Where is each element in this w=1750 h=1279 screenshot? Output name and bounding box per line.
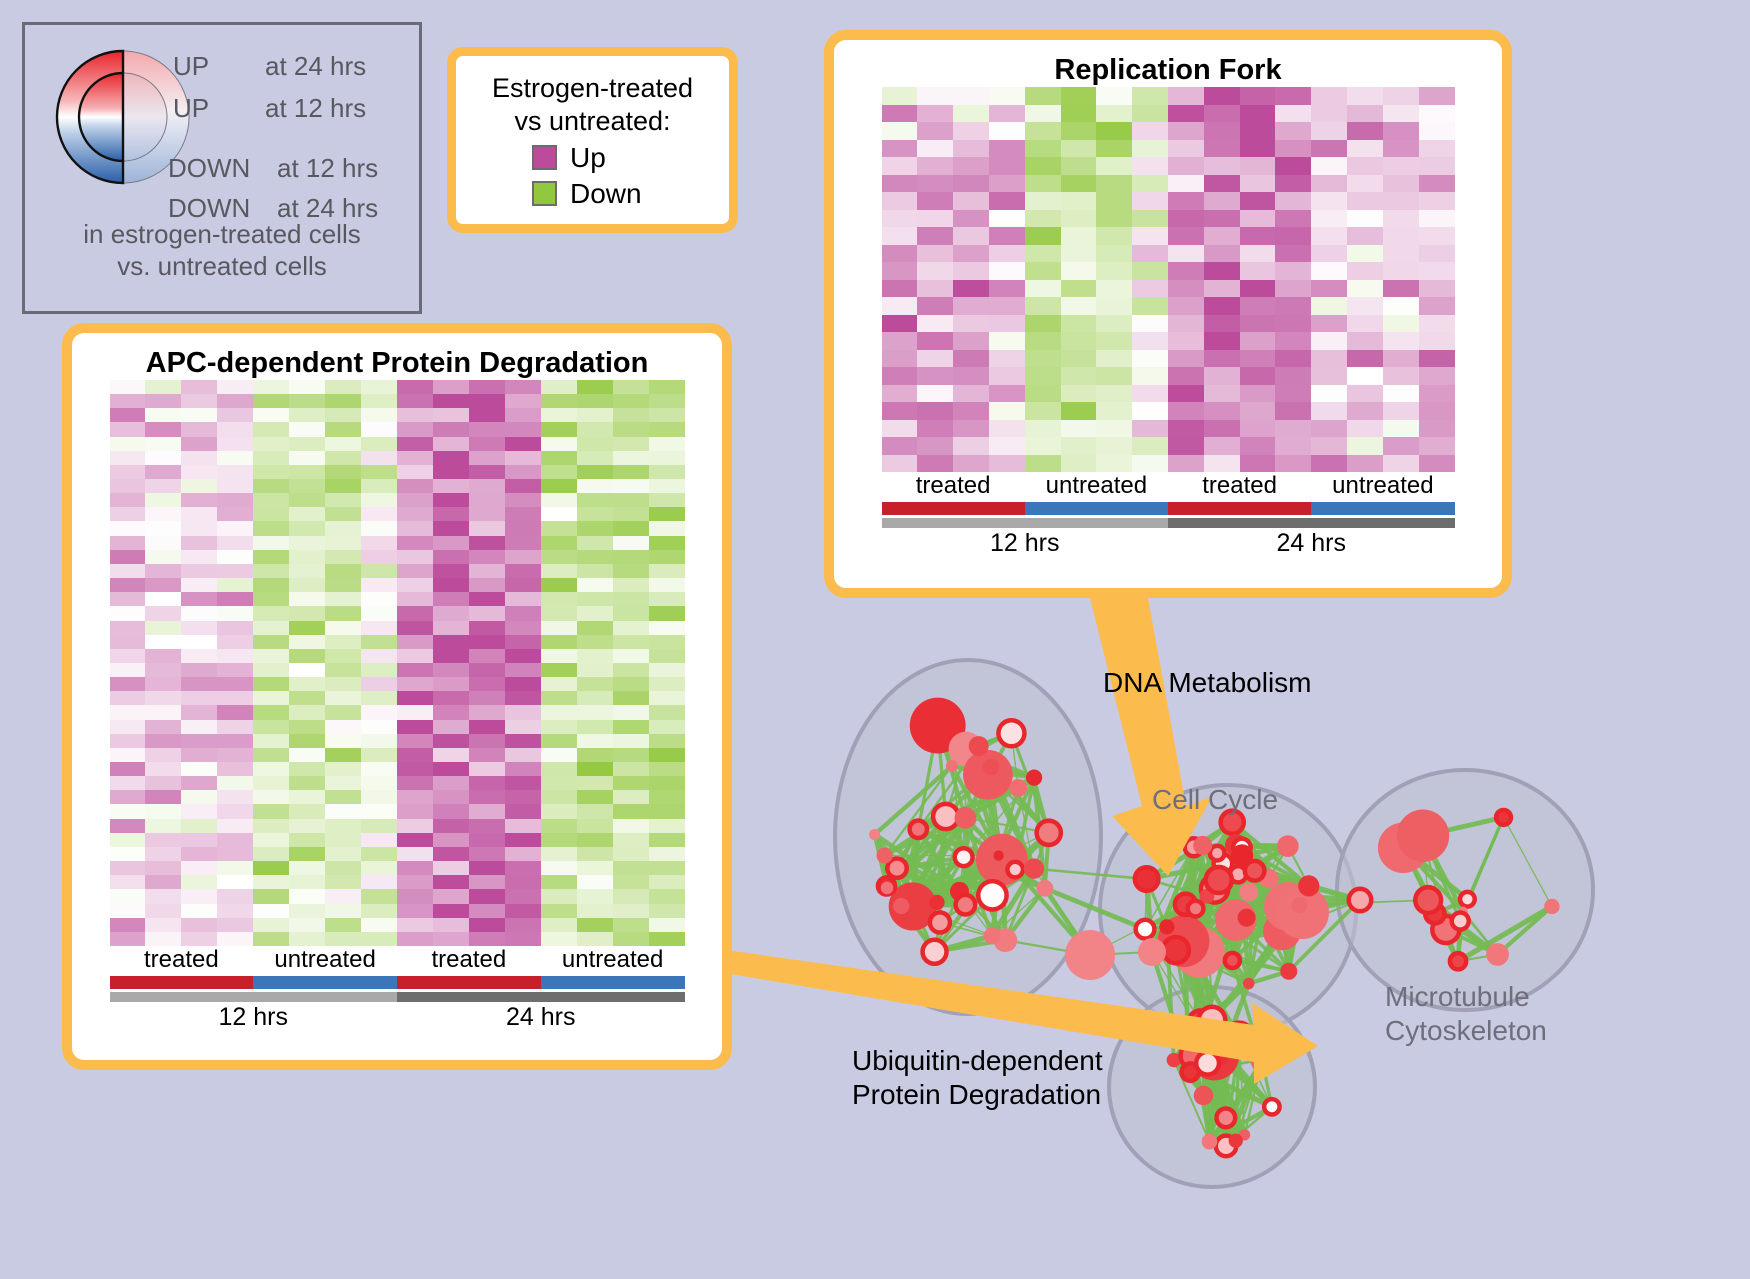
heatmap-cell xyxy=(1096,262,1132,280)
heatmap-cell xyxy=(145,550,181,564)
timepoint-bar-segment-1 xyxy=(1168,518,1455,528)
heatmap-cell xyxy=(253,663,289,677)
heatmap-cell xyxy=(145,720,181,734)
heatmap-cell xyxy=(882,227,918,245)
heatmap-cell xyxy=(953,437,989,455)
heatmap-cell xyxy=(1168,385,1204,403)
heatmap-cell xyxy=(289,918,325,932)
column-group-labels-apc: treateduntreatedtreateduntreated xyxy=(110,946,685,974)
heatmap-cell xyxy=(325,932,361,946)
heatmap-cell xyxy=(1025,402,1061,420)
heatmap-cell xyxy=(649,507,685,521)
heatmap-cell xyxy=(1311,122,1347,140)
heatmap-cell xyxy=(433,833,469,847)
heatmap-cell xyxy=(1204,175,1240,193)
network-node xyxy=(1202,1134,1218,1150)
legend-key-up-12: UP xyxy=(173,93,209,124)
legend-time-up-12: at 12 hrs xyxy=(265,93,366,124)
heatmap-cell xyxy=(1311,280,1347,298)
heatmap-cell xyxy=(1240,157,1276,175)
heatmap-cell xyxy=(613,932,649,946)
heatmap-cell xyxy=(217,408,253,422)
heatmap-cell xyxy=(1347,455,1383,473)
heatmap-cell xyxy=(1275,315,1311,333)
heatmap-cell xyxy=(1347,262,1383,280)
heatmap-cell xyxy=(541,904,577,918)
heatmap-cell xyxy=(917,315,953,333)
heatmap-cell xyxy=(110,663,146,677)
heatmap-cell xyxy=(1347,350,1383,368)
heatmap-cell xyxy=(541,875,577,889)
heatmap-cell xyxy=(917,262,953,280)
heatmap-cell xyxy=(613,606,649,620)
heatmap-cell xyxy=(217,578,253,592)
heatmap-cell xyxy=(181,550,217,564)
heatmap-cell xyxy=(253,394,289,408)
heatmap-cell xyxy=(181,479,217,493)
heatmap-cell xyxy=(145,734,181,748)
heatmap-cell xyxy=(953,385,989,403)
heatmap-cell xyxy=(1240,210,1276,228)
treatment-bar-segment-2 xyxy=(397,976,541,989)
heatmap-cell xyxy=(289,507,325,521)
heatmap-cell xyxy=(325,394,361,408)
heatmap-cell xyxy=(1025,437,1061,455)
heatmap-cell xyxy=(917,140,953,158)
heatmap-cell xyxy=(145,592,181,606)
heatmap-cell xyxy=(361,677,397,691)
heatmap-cell xyxy=(1025,297,1061,315)
heatmap-cell xyxy=(989,105,1025,123)
heatmap-cell xyxy=(1275,332,1311,350)
heatmap-cell xyxy=(397,493,433,507)
heatmap-cell xyxy=(397,451,433,465)
heatmap-cell xyxy=(1096,140,1132,158)
heatmap-cell xyxy=(1168,262,1204,280)
heatmap-cell xyxy=(433,904,469,918)
heatmap-cell xyxy=(577,932,613,946)
heatmap-cell xyxy=(541,451,577,465)
heatmap-cell xyxy=(541,889,577,903)
heatmap-cell xyxy=(361,889,397,903)
heatmap-cell xyxy=(361,635,397,649)
heatmap-cell xyxy=(181,621,217,635)
heatmap-cell xyxy=(953,402,989,420)
heatmap-cell xyxy=(577,875,613,889)
column-group-label-3: untreated xyxy=(541,946,685,974)
heatmap-cell xyxy=(181,932,217,946)
heatmap-cell xyxy=(145,536,181,550)
heatmap-cell xyxy=(253,790,289,804)
heatmap-cell xyxy=(1025,245,1061,263)
heatmap-cell xyxy=(541,918,577,932)
heatmap-cell xyxy=(253,819,289,833)
heatmap-cell xyxy=(145,804,181,818)
heatmap-cell xyxy=(505,649,541,663)
heatmap-cell xyxy=(505,521,541,535)
treatment-bar-segment-0 xyxy=(882,502,1025,515)
heatmap-cell xyxy=(541,380,577,394)
heatmap-cell xyxy=(577,861,613,875)
heatmap-cell xyxy=(1204,455,1240,473)
heatmap-cell xyxy=(361,734,397,748)
heatmap-cell xyxy=(325,847,361,861)
heatmap-cell xyxy=(1347,210,1383,228)
heatmap-cell xyxy=(613,394,649,408)
heatmap-cell xyxy=(953,420,989,438)
heatmap-cell xyxy=(1275,87,1311,105)
heatmap-cell xyxy=(325,564,361,578)
heatmap-cell xyxy=(110,394,146,408)
heatmap-cell xyxy=(325,861,361,875)
heatmap-cell xyxy=(145,904,181,918)
heatmap-cell xyxy=(953,455,989,473)
heatmap-cell xyxy=(289,663,325,677)
cluster-label-microtubule-cytoskeleton: Microtubule Cytoskeleton xyxy=(1385,980,1547,1047)
heatmap-cell xyxy=(397,790,433,804)
heatmap-cell xyxy=(289,875,325,889)
network-node xyxy=(1227,955,1238,966)
heatmap-cell xyxy=(1168,332,1204,350)
heatmap-cell xyxy=(1383,192,1419,210)
heatmap-cell xyxy=(1419,192,1455,210)
heatmap-cell xyxy=(1419,455,1455,473)
heatmap-cell xyxy=(917,367,953,385)
heatmap-cell xyxy=(1383,245,1419,263)
heatmap-cell xyxy=(989,297,1025,315)
heatmap-cell xyxy=(1311,350,1347,368)
heatmap-cell xyxy=(397,734,433,748)
heatmap-cell xyxy=(1168,297,1204,315)
heatmap-cell xyxy=(469,889,505,903)
heatmap-cell xyxy=(1132,437,1168,455)
heatmap-cell xyxy=(289,578,325,592)
heatmap-cell xyxy=(1383,87,1419,105)
heatmap-cell xyxy=(1061,157,1097,175)
heatmap-cell xyxy=(1383,420,1419,438)
heatmap-cell xyxy=(433,677,469,691)
heatmap-cell xyxy=(217,804,253,818)
heatmap-cell xyxy=(541,465,577,479)
heatmap-cell xyxy=(217,479,253,493)
heatmap-cell xyxy=(217,663,253,677)
network-node xyxy=(1208,869,1230,891)
heatmap-cell xyxy=(882,315,918,333)
heatmap-cell xyxy=(325,606,361,620)
heatmap-cell xyxy=(1275,420,1311,438)
heatmap-cell xyxy=(397,550,433,564)
heatmap-cell xyxy=(469,734,505,748)
heatmap-cell xyxy=(361,550,397,564)
heatmap-cell xyxy=(1025,350,1061,368)
heatmap-cell xyxy=(989,245,1025,263)
timepoint-bar-segment-1 xyxy=(397,992,685,1002)
heatmap-cell xyxy=(397,889,433,903)
heatmap-cell xyxy=(541,521,577,535)
heatmap-cell xyxy=(1419,122,1455,140)
heatmap-cell xyxy=(1168,175,1204,193)
heatmap-cell xyxy=(433,550,469,564)
heatmap-cell xyxy=(1061,280,1097,298)
network-node xyxy=(1138,938,1166,966)
heatmap-cell xyxy=(917,122,953,140)
network-node xyxy=(881,882,894,895)
heatmap-cell xyxy=(361,521,397,535)
heatmap-cell xyxy=(505,804,541,818)
heatmap-cell xyxy=(397,621,433,635)
network-node xyxy=(932,915,948,931)
heatmap-cell xyxy=(433,536,469,550)
heatmap-cell xyxy=(1383,105,1419,123)
heatmap-cell xyxy=(217,705,253,719)
heatmap-cell xyxy=(1132,332,1168,350)
network-node xyxy=(1462,894,1472,904)
network-node xyxy=(1137,869,1156,888)
heatmap-cell xyxy=(953,140,989,158)
heatmap-cell xyxy=(505,592,541,606)
heatmap-cell xyxy=(882,105,918,123)
heatmap-cell xyxy=(505,932,541,946)
heatmap-cell xyxy=(469,451,505,465)
heatmap-cell xyxy=(1275,385,1311,403)
heatmap-cell xyxy=(1275,227,1311,245)
heatmap-cell xyxy=(397,536,433,550)
heatmap-cell xyxy=(541,493,577,507)
heatmap-cell xyxy=(541,507,577,521)
heatmap-cell xyxy=(433,465,469,479)
heatmap-cell xyxy=(649,705,685,719)
network-node xyxy=(958,897,973,912)
heatmap-cell xyxy=(1132,245,1168,263)
network-node xyxy=(1001,723,1023,745)
heatmap-cell xyxy=(181,578,217,592)
heatmap-cell xyxy=(1275,297,1311,315)
heatmap-cell xyxy=(649,847,685,861)
heatmap-cell xyxy=(433,394,469,408)
heatmap-cell xyxy=(397,861,433,875)
heatmap-cell xyxy=(1419,402,1455,420)
heatmap-cell xyxy=(361,380,397,394)
heatmap-cell xyxy=(1204,280,1240,298)
heatmap-cell xyxy=(613,649,649,663)
heatmap-cell xyxy=(1383,280,1419,298)
heatmap-cell xyxy=(289,606,325,620)
heatmap-cell xyxy=(1347,297,1383,315)
heatmap-cell xyxy=(541,762,577,776)
heatmap-cell xyxy=(613,847,649,861)
heatmap-cell xyxy=(110,677,146,691)
heatmap-cell xyxy=(649,380,685,394)
heatmap-cell xyxy=(397,408,433,422)
heatmap-cell xyxy=(253,422,289,436)
heatmap-cell xyxy=(253,606,289,620)
heatmap-cell xyxy=(1132,122,1168,140)
heatmap-cell xyxy=(1096,157,1132,175)
heatmap-cell xyxy=(361,564,397,578)
heatmap-cell xyxy=(1419,245,1455,263)
heatmap-cell xyxy=(217,889,253,903)
network-node xyxy=(1193,836,1212,855)
heatmap-cell xyxy=(469,847,505,861)
heatmap-cell xyxy=(325,550,361,564)
heatmap-replication-fork xyxy=(882,87,1455,472)
heatmap-cell xyxy=(289,521,325,535)
heatmap-cell xyxy=(541,833,577,847)
heatmap-cell xyxy=(253,677,289,691)
heatmap-cell xyxy=(577,889,613,903)
heatmap-cell xyxy=(217,847,253,861)
network-node xyxy=(1229,1134,1243,1148)
heatmap-cell xyxy=(361,932,397,946)
heatmap-cell xyxy=(217,521,253,535)
network-node xyxy=(957,851,970,864)
heatmap-cell xyxy=(325,649,361,663)
heatmap-cell xyxy=(577,465,613,479)
heatmap-cell xyxy=(110,762,146,776)
down-color-swatch xyxy=(532,181,557,206)
heatmap-cell xyxy=(289,451,325,465)
heatmap-cell xyxy=(433,521,469,535)
heatmap-cell xyxy=(433,875,469,889)
heatmap-cell xyxy=(1240,437,1276,455)
heatmap-cell xyxy=(433,861,469,875)
heatmap-cell xyxy=(541,790,577,804)
heatmap-cell xyxy=(433,918,469,932)
heatmap-cell xyxy=(325,705,361,719)
heatmap-cell xyxy=(1275,402,1311,420)
heatmap-cell xyxy=(1168,210,1204,228)
heatmap-cell xyxy=(505,833,541,847)
column-group-label-0: treated xyxy=(882,472,1025,500)
heatmap-cell xyxy=(1096,385,1132,403)
heatmap-cell xyxy=(953,280,989,298)
heatmap-cell xyxy=(577,762,613,776)
heatmap-cell xyxy=(289,705,325,719)
heatmap-cell xyxy=(110,621,146,635)
heatmap-cell xyxy=(577,606,613,620)
column-group-label-1: untreated xyxy=(1025,472,1168,500)
heatmap-cell xyxy=(1204,210,1240,228)
heatmap-cell xyxy=(217,536,253,550)
heatmap-cell xyxy=(217,649,253,663)
network-node xyxy=(1291,897,1307,913)
heatmap-cell xyxy=(1061,192,1097,210)
heatmap-cell xyxy=(649,720,685,734)
heatmap-cell xyxy=(505,918,541,932)
heatmap-cell xyxy=(505,437,541,451)
heatmap-cell xyxy=(145,932,181,946)
heatmap-cell xyxy=(505,790,541,804)
heatmap-cell xyxy=(1275,210,1311,228)
heatmap-cell xyxy=(145,621,181,635)
network-node xyxy=(1239,883,1258,902)
heatmap-cell xyxy=(325,720,361,734)
heatmap-cell xyxy=(469,635,505,649)
heatmap-cell xyxy=(397,564,433,578)
heatmap-cell xyxy=(505,408,541,422)
heatmap-cell xyxy=(253,918,289,932)
heatmap-cell xyxy=(1311,315,1347,333)
heatmap-cell xyxy=(145,776,181,790)
heatmap-cell xyxy=(181,408,217,422)
heatmap-cell xyxy=(989,227,1025,245)
heatmap-cell xyxy=(505,507,541,521)
heatmap-cell xyxy=(613,592,649,606)
heatmap-cell xyxy=(145,380,181,394)
heatmap-cell xyxy=(1347,157,1383,175)
heatmap-cell xyxy=(1132,105,1168,123)
heatmap-cell xyxy=(882,87,918,105)
timepoint-bar-segment-0 xyxy=(110,992,398,1002)
heatmap-cell xyxy=(289,734,325,748)
legend-time-up-24: at 24 hrs xyxy=(265,51,366,82)
heatmap-cell xyxy=(110,422,146,436)
heatmap-cell xyxy=(1061,87,1097,105)
heatmap-cell xyxy=(433,635,469,649)
heatmap-cell xyxy=(325,521,361,535)
heatmap-cell xyxy=(433,578,469,592)
column-group-label-2: treated xyxy=(397,946,541,974)
heatmap-cell xyxy=(289,635,325,649)
heatmap-cell xyxy=(1132,455,1168,473)
heatmap-cell xyxy=(1311,245,1347,263)
heatmap-cell xyxy=(1383,175,1419,193)
heatmap-cell xyxy=(433,408,469,422)
network-node xyxy=(1024,858,1044,878)
heatmap-cell xyxy=(917,385,953,403)
network-node xyxy=(1212,848,1222,858)
heatmap-cell xyxy=(397,720,433,734)
heatmap-cell xyxy=(1168,157,1204,175)
heatmap-cell xyxy=(1132,262,1168,280)
heatmap-cell xyxy=(1096,420,1132,438)
heatmap-cell xyxy=(325,408,361,422)
heatmap-cell xyxy=(433,663,469,677)
heatmap-cell xyxy=(953,332,989,350)
heatmap-cell xyxy=(253,592,289,606)
heatmap-cell xyxy=(1383,402,1419,420)
heatmap-cell xyxy=(917,175,953,193)
heatmap-cell xyxy=(325,592,361,606)
heatmap-cell xyxy=(1311,297,1347,315)
heatmap-cell xyxy=(145,790,181,804)
heatmap-cell xyxy=(882,332,918,350)
heatmap-cell xyxy=(469,521,505,535)
heatmap-cell xyxy=(1061,437,1097,455)
heatmap-cell xyxy=(325,493,361,507)
heatmap-cell xyxy=(613,720,649,734)
heatmap-cell xyxy=(613,918,649,932)
heatmap-cell xyxy=(397,578,433,592)
heatmap-cell xyxy=(613,550,649,564)
heatmap-cell xyxy=(397,932,433,946)
network-node xyxy=(1165,939,1187,961)
treatment-bar-segment-3 xyxy=(1311,502,1454,515)
heatmap-cell xyxy=(1347,105,1383,123)
heatmap-cell xyxy=(882,367,918,385)
heatmap-cell xyxy=(1275,157,1311,175)
legend-key-up-24: UP xyxy=(173,51,209,82)
heatmap-cell xyxy=(325,819,361,833)
heatmap-cell xyxy=(1025,157,1061,175)
heatmap-cell xyxy=(613,833,649,847)
heatmap-cell xyxy=(917,455,953,473)
heatmap-cell xyxy=(1347,192,1383,210)
heatmap-cell xyxy=(1240,385,1276,403)
heatmap-cell xyxy=(361,465,397,479)
heatmap-cell xyxy=(1204,157,1240,175)
heatmap-cell xyxy=(325,776,361,790)
